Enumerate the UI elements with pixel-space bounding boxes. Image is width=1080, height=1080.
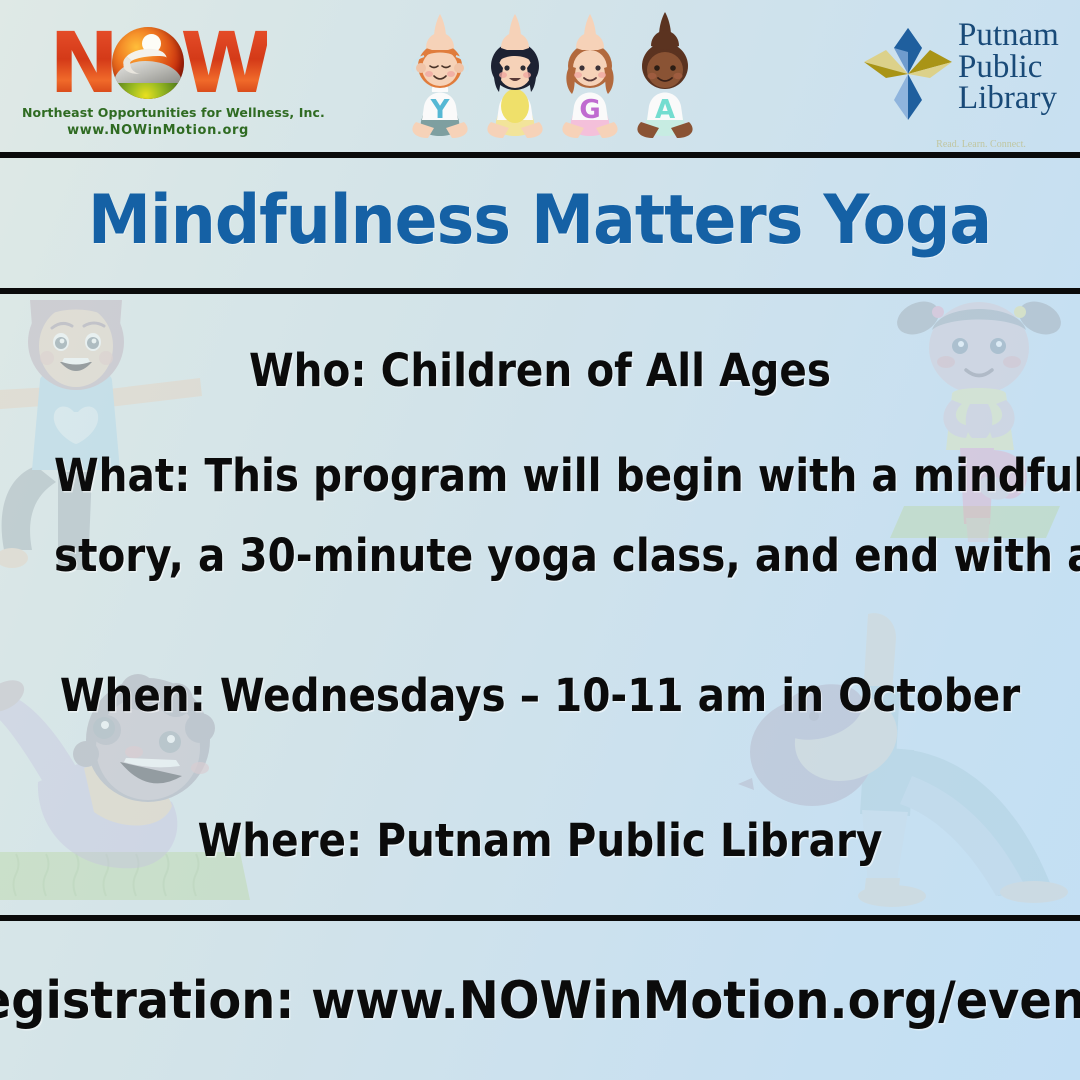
flyer-footer: Registration: www.NOWinMotion.org/events (0, 921, 1080, 1080)
yoga-kid-o (479, 10, 551, 146)
library-star-icon (862, 26, 954, 122)
library-logo-text: Putnam Public Library (958, 18, 1059, 115)
svg-text:Y: Y (430, 95, 451, 125)
yoga-kids-illustration: Y (404, 10, 704, 146)
svg-text:G: G (579, 95, 600, 125)
now-logo-website: www.NOWinMotion.org (22, 123, 294, 138)
now-letter-w: W (180, 24, 267, 102)
header-band: N W Northeast Opportunities for Wellness… (0, 0, 1080, 152)
flyer-canvas: N W Northeast Opportunities for Wellness… (0, 0, 1080, 1080)
now-logo: N W Northeast Opportunities for Wellness… (22, 24, 294, 138)
library-name-line3: Library (958, 83, 1059, 115)
library-name-line2: Public (958, 52, 1059, 84)
svg-text:A: A (655, 95, 675, 125)
flyer-body: Who: Children of All Ages What: This pro… (0, 294, 1080, 915)
body-line-where: Where: Putnam Public Library (54, 814, 1026, 867)
putnam-public-library-logo: Putnam Public Library Read. Learn. Conne… (862, 18, 1062, 146)
body-line-who: Who: Children of All Ages (54, 344, 1026, 397)
yoga-kid-y: Y (404, 10, 476, 146)
registration-line: Registration: www.NOWinMotion.org/events (0, 971, 1080, 1031)
library-name-line1: Putnam (958, 20, 1059, 52)
page-title: Mindfulness Matters Yoga (88, 181, 991, 260)
body-line-when: When: Wednesdays – 10-11 am in October (54, 669, 1026, 722)
now-letter-n: N (49, 24, 116, 102)
now-logo-orb-icon (112, 27, 184, 99)
library-logo-tagline: Read. Learn. Connect. (886, 139, 1076, 150)
now-wordmark: N W (22, 24, 294, 102)
flyer-title: Mindfulness Matters Yoga (0, 152, 1080, 288)
body-line-what-2: story, a 30-minute yoga class, and end w… (54, 529, 1026, 582)
yoga-kid-a: A (629, 10, 701, 146)
body-line-what-1: What: This program will begin with a min… (54, 449, 1026, 502)
yoga-kid-g: G (554, 10, 626, 146)
